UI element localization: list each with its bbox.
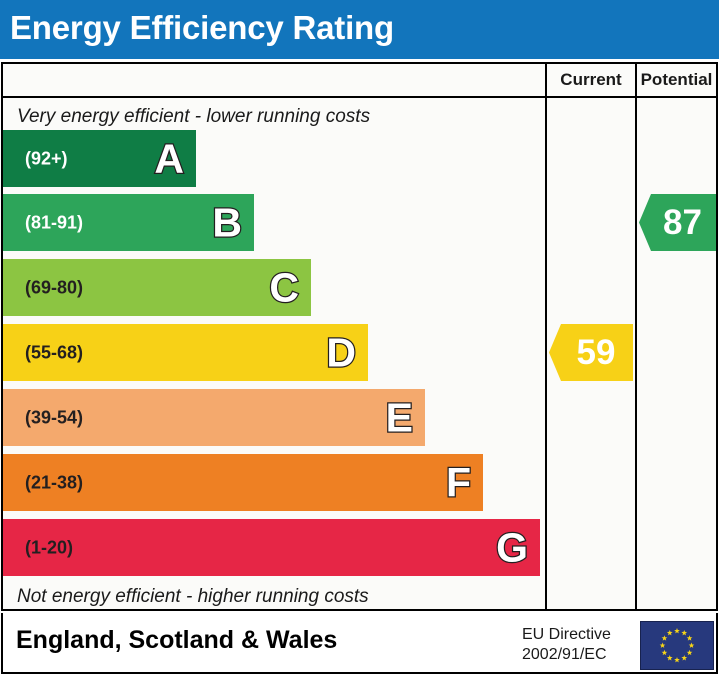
- potential-rating-value: 87: [653, 205, 702, 240]
- column-header-current: Current: [545, 64, 635, 96]
- potential-rating-marker: 87: [639, 194, 716, 251]
- chart-footer: England, Scotland & Wales EU Directive 2…: [1, 613, 718, 674]
- band-a-letter: A: [154, 138, 184, 179]
- column-header-potential: Potential: [635, 64, 716, 96]
- band-d: (55-68) D: [3, 324, 368, 381]
- eu-flag-icon: [640, 621, 714, 670]
- caption-bottom: Not energy efficient - higher running co…: [17, 586, 369, 608]
- band-a-range: (92+): [25, 148, 68, 169]
- band-c-range: (69-80): [25, 277, 83, 298]
- band-e-range: (39-54): [25, 407, 83, 428]
- caption-top: Very energy efficient - lower running co…: [17, 106, 370, 128]
- footer-directive-line2: 2002/91/EC: [522, 645, 611, 665]
- footer-directive: EU Directive 2002/91/EC: [522, 625, 611, 665]
- band-f: (21-38) F: [3, 454, 483, 511]
- current-rating-value: 59: [567, 335, 616, 370]
- band-g: (1-20) G: [3, 519, 540, 576]
- chart-body-frame: Current Potential Very energy efficient …: [1, 62, 718, 611]
- column-divider-potential: [635, 98, 637, 611]
- band-c-letter: C: [269, 267, 299, 308]
- energy-efficiency-rating-chart: Energy Efficiency Rating Current Potenti…: [0, 0, 719, 675]
- current-rating-marker: 59: [549, 324, 633, 381]
- band-c: (69-80) C: [3, 259, 311, 316]
- column-header-row: Current Potential: [3, 64, 716, 98]
- footer-region-label: England, Scotland & Wales: [16, 626, 337, 655]
- band-g-range: (1-20): [25, 537, 73, 558]
- band-e-letter: E: [386, 397, 413, 438]
- band-b-range: (81-91): [25, 212, 83, 233]
- band-d-range: (55-68): [25, 342, 83, 363]
- band-b: (81-91) B: [3, 194, 254, 251]
- band-a: (92+) A: [3, 130, 196, 187]
- band-g-letter: G: [496, 527, 528, 568]
- eu-flag-stars: [641, 622, 713, 669]
- page-title: Energy Efficiency Rating: [10, 9, 394, 47]
- rating-bands: (92+) A (81-91) B (69-80) C (55-68) D (3…: [3, 130, 545, 582]
- band-d-letter: D: [326, 332, 356, 373]
- band-b-letter: B: [212, 202, 242, 243]
- band-e: (39-54) E: [3, 389, 425, 446]
- band-f-range: (21-38): [25, 472, 83, 493]
- chart-title-bar: Energy Efficiency Rating: [0, 0, 719, 59]
- band-f-letter: F: [446, 462, 471, 503]
- column-divider-current: [545, 98, 547, 611]
- footer-directive-line1: EU Directive: [522, 625, 611, 645]
